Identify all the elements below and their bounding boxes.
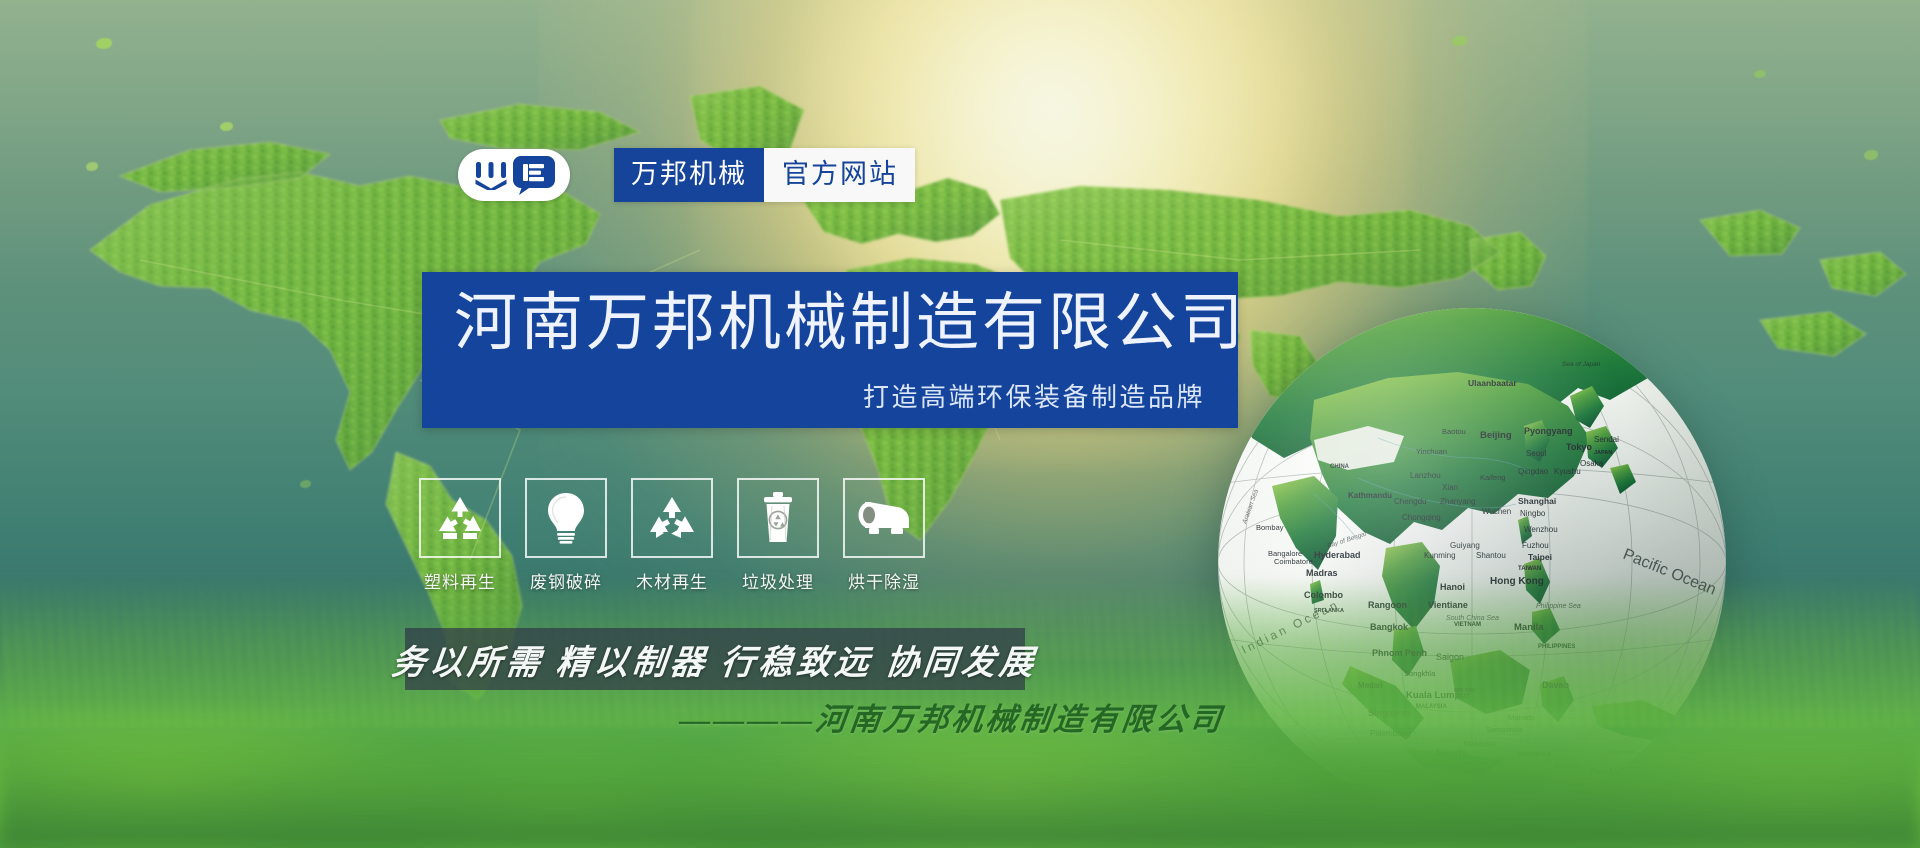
svg-text:Ulaanbaatar: Ulaanbaatar (1468, 378, 1517, 388)
feature-icon-box[interactable] (843, 478, 925, 558)
feature-item-plastic-recycling[interactable]: 塑料再生 (420, 478, 500, 593)
logo-b-bubble-icon (513, 155, 555, 195)
wanbang-logo-icon[interactable] (458, 149, 570, 201)
svg-text:Sea of Japan: Sea of Japan (1562, 361, 1601, 368)
tag-official-site: 官方网站 (764, 148, 915, 202)
svg-text:Madras: Madras (1306, 568, 1338, 578)
trash-bin-recycle-icon (758, 492, 798, 544)
svg-text:Kunming: Kunming (1424, 551, 1456, 560)
svg-text:Wuchen: Wuchen (1482, 507, 1511, 516)
svg-text:Wenzhou: Wenzhou (1524, 525, 1558, 534)
feature-item-drying-dehumidifying[interactable]: 烘干除湿 (844, 478, 924, 593)
svg-text:JAPAN: JAPAN (1594, 450, 1612, 456)
lightbulb-icon (545, 492, 587, 544)
recycle-icon (647, 495, 697, 541)
svg-text:Kyushu: Kyushu (1554, 467, 1581, 476)
svg-text:Yinchuan: Yinchuan (1416, 447, 1447, 456)
logo-w-mark (474, 160, 508, 190)
svg-text:Ningbo: Ningbo (1520, 509, 1546, 518)
svg-text:CHINA: CHINA (1330, 464, 1350, 470)
feature-icon-box[interactable] (631, 478, 713, 558)
svg-text:Qingdao: Qingdao (1518, 467, 1549, 476)
feature-item-scrap-steel-crushing[interactable]: 废钢破碎 (526, 478, 606, 593)
page-subtitle: 打造高端环保装备制造品牌 (863, 377, 1205, 414)
feature-icon-box[interactable] (525, 478, 607, 558)
slogan-signature: ————河南万邦机械制造有限公司 (677, 694, 1203, 739)
recycle-icon (435, 495, 485, 541)
feature-label: 烘干除湿 (848, 568, 920, 593)
hero-title-panel: 河南万邦机械制造有限公司 打造高端环保装备制造品牌 (422, 272, 1238, 428)
feature-icon-row: 塑料再生 废钢破碎 (420, 478, 924, 593)
svg-text:Tokyo: Tokyo (1566, 442, 1592, 452)
tag-company-name: 万邦机械 (614, 148, 764, 202)
svg-text:Bangalore: Bangalore (1268, 549, 1302, 558)
feature-icon-box[interactable] (419, 478, 501, 558)
svg-text:Beijing: Beijing (1480, 430, 1512, 441)
svg-text:Kaifeng: Kaifeng (1480, 473, 1505, 482)
svg-text:Sendai: Sendai (1594, 435, 1619, 444)
svg-text:Shantou: Shantou (1476, 551, 1506, 560)
svg-text:TAIWAN: TAIWAN (1518, 566, 1541, 572)
brand-logo-row[interactable]: 万邦机械 官方网站 (458, 148, 915, 202)
svg-text:Chengdu: Chengdu (1394, 497, 1426, 506)
feature-item-wood-recycling[interactable]: 木材再生 (632, 478, 712, 593)
feature-item-waste-treatment[interactable]: 垃圾处理 (738, 478, 818, 593)
svg-text:Fuzhou: Fuzhou (1522, 541, 1549, 550)
feature-label: 垃圾处理 (742, 568, 814, 593)
svg-text:Seoul: Seoul (1526, 449, 1547, 458)
grass-shadow (0, 728, 1920, 848)
svg-text:Lanzhou: Lanzhou (1410, 471, 1441, 480)
svg-text:Zhanyang: Zhanyang (1440, 497, 1476, 506)
dryer-machine-icon (857, 499, 911, 537)
hero-banner: Ulaanbaatar Beijing Baotou Yinchuan Lanz… (0, 0, 1920, 848)
svg-text:Baotou: Baotou (1442, 427, 1466, 436)
svg-text:Osaka: Osaka (1580, 459, 1604, 468)
feature-label: 木材再生 (636, 568, 708, 593)
svg-text:Shanghai: Shanghai (1518, 496, 1556, 506)
feature-label: 塑料再生 (424, 568, 496, 593)
feature-icon-box[interactable] (737, 478, 819, 558)
slogan-banner: 务以所需 精以制器 行稳致远 协同发展 (405, 628, 1025, 690)
svg-text:Bombay: Bombay (1256, 523, 1284, 532)
svg-text:Coimbatore: Coimbatore (1274, 557, 1313, 566)
svg-text:Guiyang: Guiyang (1450, 541, 1480, 550)
svg-text:Kathmandu: Kathmandu (1348, 491, 1392, 500)
svg-text:Pyongyang: Pyongyang (1524, 426, 1573, 436)
feature-label: 废钢破碎 (530, 568, 602, 593)
slogan-text: 务以所需 精以制器 行稳致远 协同发展 (390, 635, 1041, 684)
page-title: 河南万邦机械制造有限公司 (454, 290, 1246, 356)
svg-text:Hyderabad: Hyderabad (1314, 550, 1361, 560)
site-tag[interactable]: 万邦机械 官方网站 (614, 148, 915, 202)
svg-text:Chongqing: Chongqing (1402, 513, 1441, 522)
svg-text:Xian: Xian (1442, 483, 1458, 492)
svg-text:Taipei: Taipei (1528, 552, 1552, 562)
